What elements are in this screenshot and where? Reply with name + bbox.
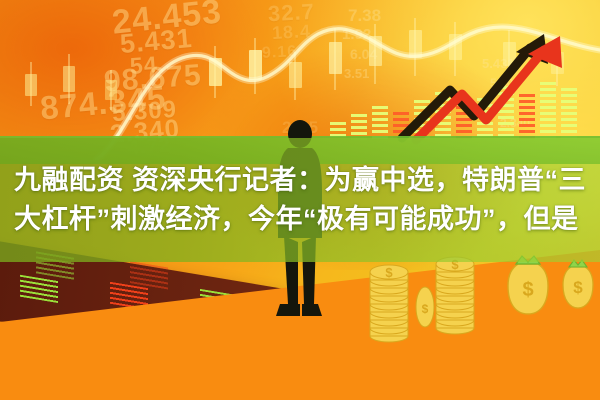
thumbnail-canvas: 24.453 5.431 54 98.675 874.345 5.309 2.3…: [0, 0, 600, 400]
dollar-sign-icon: $: [573, 278, 583, 297]
money-bag-icon: $: [556, 256, 600, 312]
coin-single-icon: $: [412, 286, 438, 328]
headline-line-2: 大杠杆”刺激经济，今年“极有可能成功”，但是: [14, 200, 586, 239]
dollar-sign-icon: $: [522, 279, 533, 301]
coin-stack-icon: $: [434, 252, 476, 336]
coin-stack-icon: $: [368, 262, 410, 344]
headline-line-1: 九融配资 资深央行记者：为赢中选，特朗普“三: [14, 161, 586, 200]
dollar-sign-icon: $: [385, 265, 393, 280]
headline-block: 九融配资 资深央行记者：为赢中选，特朗普“三 大杠杆”刺激经济，今年“极有可能成…: [0, 138, 600, 262]
dollar-sign-icon: $: [422, 302, 429, 316]
rising-arrow-icon: [396, 20, 576, 145]
